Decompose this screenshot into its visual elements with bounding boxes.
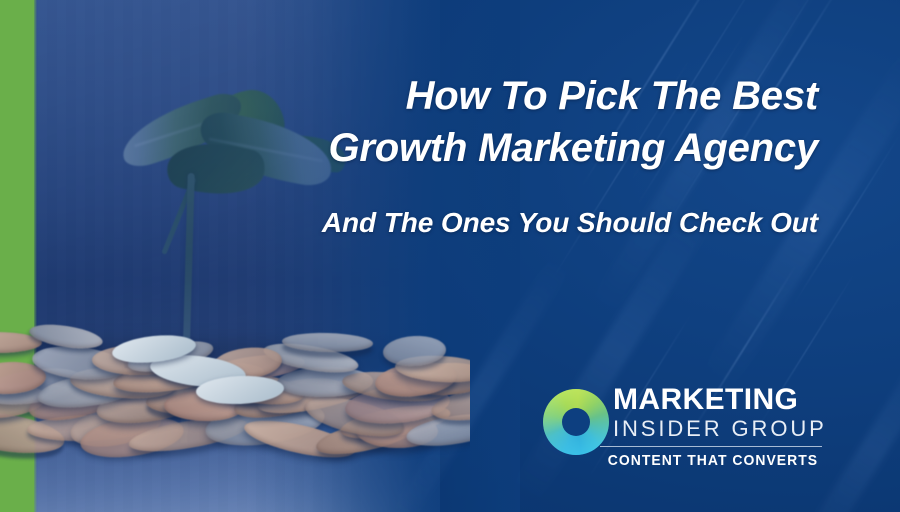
blog-header-graphic: How To Pick The Best Growth Marketing Ag… <box>0 0 900 512</box>
ring-icon-hole <box>562 408 590 436</box>
logo-name: MARKETING <box>613 383 823 416</box>
logo-subname: INSIDER GROUP <box>613 416 823 442</box>
subheading: And The Ones You Should Check Out <box>250 174 818 240</box>
logo-tagline: CONTENT THAT CONVERTS <box>608 452 814 469</box>
headline-line-1: How To Pick The Best <box>250 70 818 122</box>
headline-line-2: Growth Marketing Agency <box>250 122 818 174</box>
logo[interactable]: MARKETING INSIDER GROUP CONTENT THAT CON… <box>543 383 823 475</box>
logo-wordmark: MARKETING INSIDER GROUP CONTENT THAT CON… <box>613 383 823 469</box>
headline-block: How To Pick The Best Growth Marketing Ag… <box>250 70 818 240</box>
logo-divider <box>600 446 822 447</box>
